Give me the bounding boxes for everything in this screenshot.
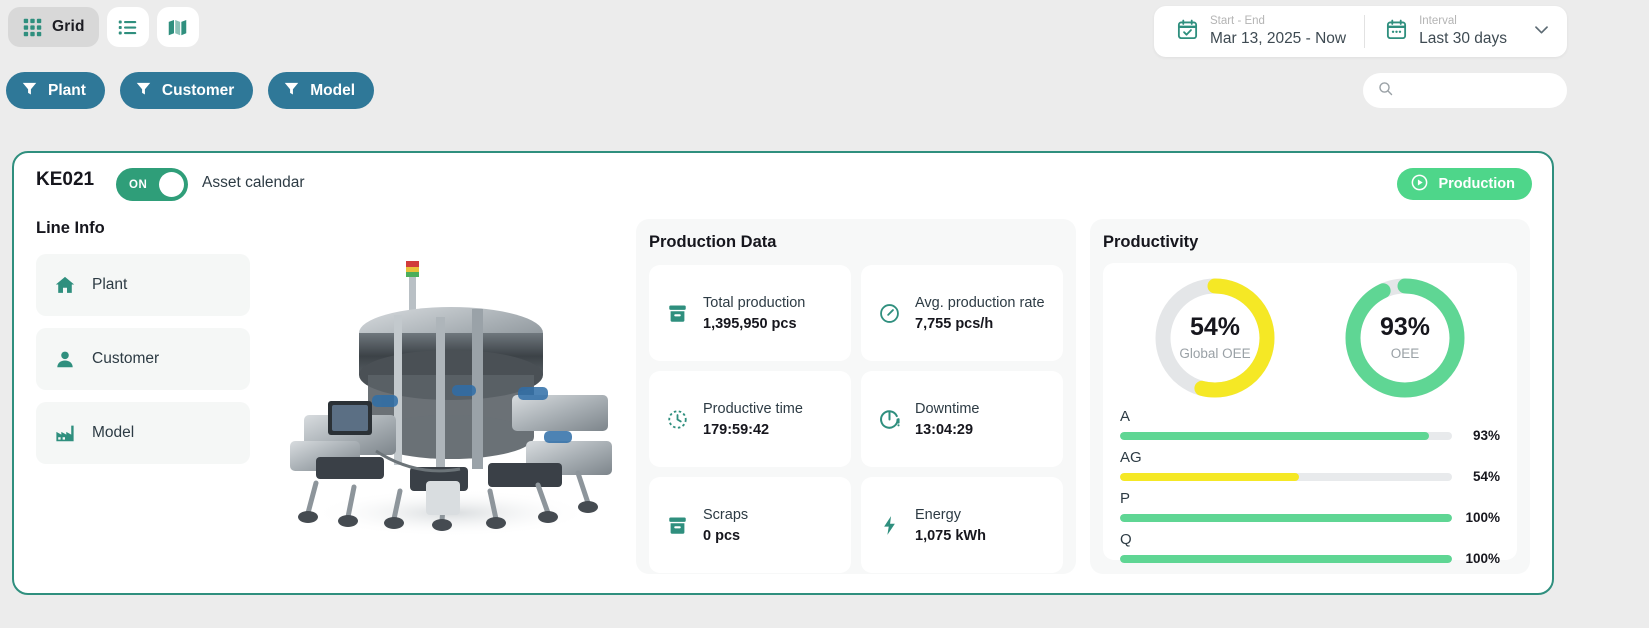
list-icon [117, 17, 138, 38]
bar-track [1120, 473, 1452, 481]
metric-label: Downtime [915, 401, 979, 417]
bar-track [1120, 555, 1452, 563]
productivity-title: Productivity [1090, 219, 1530, 252]
metric-label: Total production [703, 295, 805, 311]
filter-plant-button[interactable]: Plant [6, 72, 105, 109]
bar-label: P [1120, 490, 1500, 507]
funnel-icon [135, 80, 152, 102]
asset-id: KE021 [36, 169, 94, 191]
line-info-item-label: Plant [92, 276, 127, 294]
filter-plant-label: Plant [48, 82, 86, 100]
line-info-item-label: Model [92, 424, 134, 442]
metric-value: 13:04:29 [915, 422, 973, 438]
metric-value: 1,395,950 pcs [703, 316, 797, 332]
filter-customer-button[interactable]: Customer [120, 72, 253, 109]
metric-value: 1,075 kWh [915, 528, 986, 544]
view-mode-list[interactable] [107, 7, 149, 47]
start-end-picker[interactable]: Start - End Mar 13, 2025 - Now [1154, 6, 1364, 57]
metric-label: Productive time [703, 401, 803, 417]
bar-row-ag: AG 54% [1120, 449, 1500, 484]
gauge-caption: Global OEE [1179, 346, 1250, 361]
bar-value: 93% [1462, 428, 1500, 443]
map-icon [167, 17, 188, 38]
bar-row-q: Q 100% [1120, 531, 1500, 566]
search-icon [1377, 80, 1394, 102]
metric-scraps: Scraps 0 pcs [649, 477, 851, 573]
gauge-global-oee: 54% Global OEE [1145, 276, 1285, 400]
production-data-grid: Total production 1,395,950 pcs Avg. prod… [636, 252, 1076, 586]
bolt-icon [878, 514, 901, 537]
bar-fill [1120, 555, 1452, 563]
gauge-caption: OEE [1391, 346, 1420, 361]
status-badge-label: Production [1438, 176, 1515, 192]
line-info-title: Line Info [36, 219, 636, 238]
bar-row-a: A 93% [1120, 408, 1500, 443]
interval-label: Interval [1419, 15, 1507, 28]
interval-value: Last 30 days [1419, 30, 1507, 48]
view-mode-map[interactable] [157, 7, 199, 47]
metric-label: Scraps [703, 507, 748, 523]
gauge-value: 54% [1190, 315, 1240, 340]
metric-energy: Energy 1,075 kWh [861, 477, 1063, 573]
grid-icon [22, 17, 43, 38]
status-badge[interactable]: Production [1397, 168, 1532, 200]
factory-icon [54, 422, 76, 444]
gauge-value: 93% [1380, 315, 1430, 340]
box-icon [666, 302, 689, 325]
oee-factor-bars: A 93% AG [1120, 408, 1500, 566]
metric-downtime: Downtime 13:04:29 [861, 371, 1063, 467]
date-range-control: Start - End Mar 13, 2025 - Now [1154, 6, 1567, 57]
view-mode-switcher: Grid [8, 7, 199, 47]
bar-value: 100% [1462, 551, 1500, 566]
line-info-item-plant[interactable]: Plant [36, 254, 250, 316]
dashboard-page: Grid [0, 0, 1649, 628]
metric-productive-time: Productive time 179:59:42 [649, 371, 851, 467]
clock-alert-icon [878, 408, 901, 431]
machine-photo [276, 245, 626, 545]
metric-total-production: Total production 1,395,950 pcs [649, 265, 851, 361]
clock-dashed-icon [666, 408, 689, 431]
bar-value: 100% [1462, 510, 1500, 525]
start-end-label: Start - End [1210, 15, 1346, 28]
filter-bar: Plant Customer Model [6, 72, 374, 109]
filter-customer-label: Customer [162, 82, 234, 100]
view-mode-grid[interactable]: Grid [8, 7, 99, 47]
bar-value: 54% [1462, 469, 1500, 484]
metric-avg-production-rate: Avg. production rate 7,755 pcs/h [861, 265, 1063, 361]
line-info-item-label: Customer [92, 350, 159, 368]
bar-fill [1120, 432, 1429, 440]
bar-track [1120, 514, 1452, 522]
productivity-content: 54% Global OEE 93% OEE [1103, 263, 1517, 560]
bar-label: A [1120, 408, 1500, 425]
asset-card-header: KE021 ON Asset calendar Production [14, 153, 1552, 211]
metric-value: 0 pcs [703, 528, 740, 544]
bar-row-p: P 100% [1120, 490, 1500, 525]
filter-model-button[interactable]: Model [268, 72, 374, 109]
funnel-icon [283, 80, 300, 102]
line-info-list: Plant Customer [36, 254, 250, 464]
toggle-state-label: ON [129, 179, 147, 191]
production-data-title: Production Data [636, 219, 1076, 252]
metric-label: Energy [915, 507, 961, 523]
productivity-panel: Productivity 54% Global OEE [1090, 219, 1530, 574]
funnel-icon [21, 80, 38, 102]
calendar-dots-icon [1385, 18, 1408, 46]
oee-gauges: 54% Global OEE 93% OEE [1120, 276, 1500, 400]
play-circle-icon [1410, 173, 1429, 196]
metric-label: Avg. production rate [915, 295, 1045, 311]
asset-calendar-label: Asset calendar [202, 174, 305, 192]
metric-value: 179:59:42 [703, 422, 769, 438]
toggle-knob [159, 172, 184, 197]
bar-label: Q [1120, 531, 1500, 548]
bar-track [1120, 432, 1452, 440]
line-info-item-customer[interactable]: Customer [36, 328, 250, 390]
gauge-icon [878, 302, 901, 325]
asset-calendar-toggle[interactable]: ON [116, 168, 188, 201]
person-icon [54, 348, 76, 370]
metric-value: 7,755 pcs/h [915, 316, 993, 332]
interval-picker[interactable]: Interval Last 30 days [1365, 6, 1567, 57]
bar-fill [1120, 514, 1452, 522]
production-data-panel: Production Data Total production 1,395,9… [636, 219, 1076, 574]
calendar-check-icon [1176, 18, 1199, 46]
search-box[interactable] [1363, 73, 1567, 108]
bar-label: AG [1120, 449, 1500, 466]
box-icon [666, 514, 689, 537]
chevron-down-icon[interactable] [1532, 20, 1551, 44]
line-info-item-model[interactable]: Model [36, 402, 250, 464]
top-bar: Grid [0, 0, 1649, 62]
view-mode-grid-label: Grid [52, 18, 85, 36]
home-icon [54, 274, 76, 296]
search-input[interactable] [1402, 83, 1583, 99]
asset-card: KE021 ON Asset calendar Production Line … [12, 151, 1554, 595]
start-end-value: Mar 13, 2025 - Now [1210, 30, 1346, 48]
filter-model-label: Model [310, 82, 355, 100]
gauge-oee: 93% OEE [1335, 276, 1475, 400]
bar-fill [1120, 473, 1299, 481]
